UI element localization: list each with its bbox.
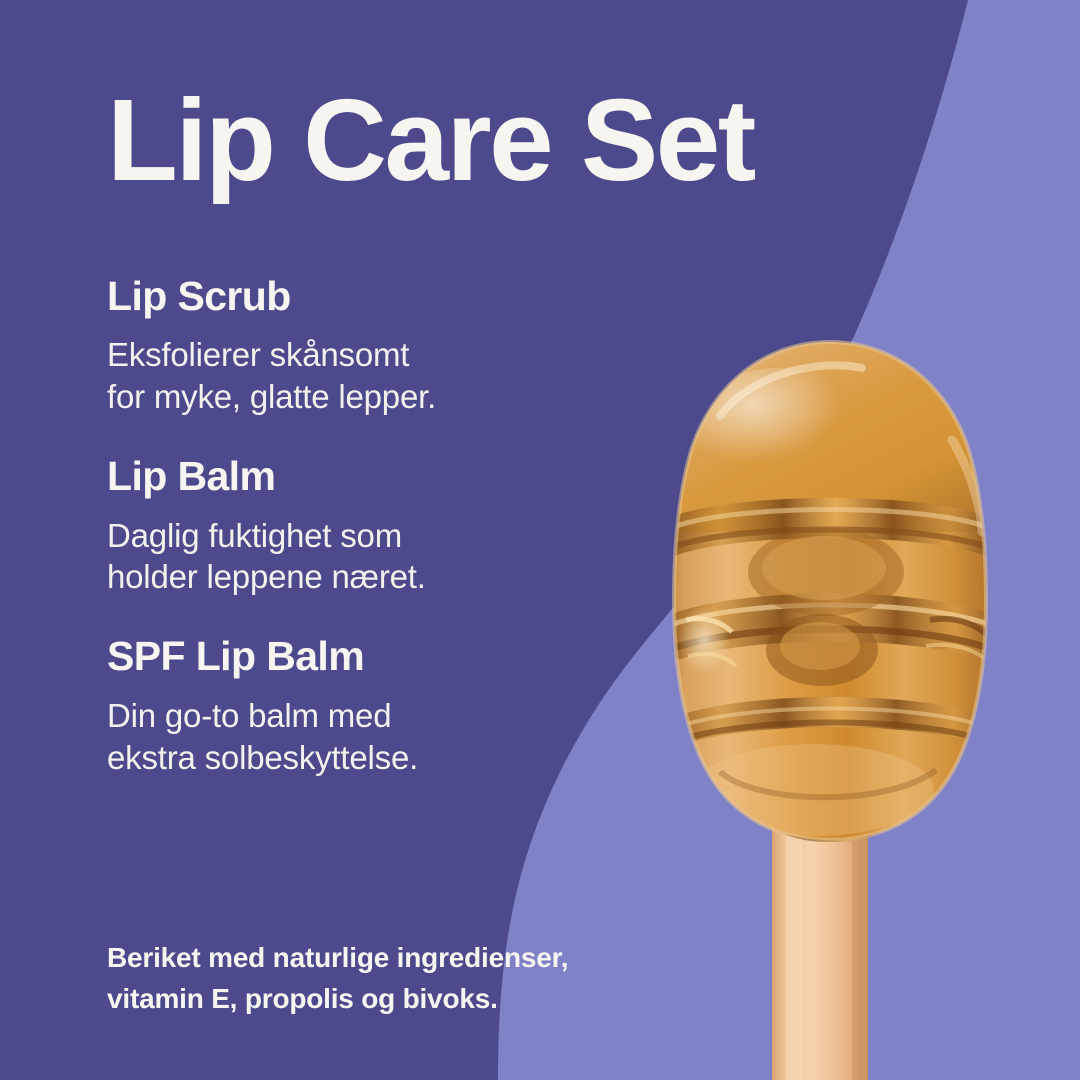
section-body-line: Daglig fuktighet som bbox=[107, 515, 627, 557]
section-body-line: Din go-to balm med bbox=[107, 695, 627, 737]
product-list: Lip Scrub Eksfolierer skånsomt for myke,… bbox=[107, 272, 627, 779]
poster-canvas: Lip Care Set Lip Scrub Eksfolierer skåns… bbox=[0, 0, 1080, 1080]
section-body-line: ekstra solbeskyttelse. bbox=[107, 737, 627, 779]
footnote-line: Beriket med naturlige ingredienser, bbox=[107, 938, 667, 979]
ingredients-footnote: Beriket med naturlige ingredienser, vita… bbox=[107, 938, 667, 1019]
section-body-line: Eksfolierer skånsomt bbox=[107, 334, 627, 376]
section-body-lip-balm: Daglig fuktighet som holder leppene nære… bbox=[107, 515, 627, 599]
section-body-line: for myke, glatte lepper. bbox=[107, 376, 627, 418]
section-heading-lip-balm: Lip Balm bbox=[107, 452, 627, 500]
footnote-line: vitamin E, propolis og bivoks. bbox=[107, 979, 667, 1020]
list-item-lip-scrub: Lip Scrub Eksfolierer skånsomt for myke,… bbox=[107, 272, 627, 418]
text-content: Lip Care Set Lip Scrub Eksfolierer skåns… bbox=[107, 0, 667, 1080]
list-item-lip-balm: Lip Balm Daglig fuktighet som holder lep… bbox=[107, 452, 627, 598]
section-body-spf-lip-balm: Din go-to balm med ekstra solbeskyttelse… bbox=[107, 695, 627, 779]
section-body-lip-scrub: Eksfolierer skånsomt for myke, glatte le… bbox=[107, 334, 627, 418]
glass-honey-dipper-image bbox=[600, 320, 1060, 1080]
page-title: Lip Care Set bbox=[107, 82, 754, 198]
list-item-spf-lip-balm: SPF Lip Balm Din go-to balm med ekstra s… bbox=[107, 632, 627, 778]
section-heading-spf-lip-balm: SPF Lip Balm bbox=[107, 632, 627, 680]
section-heading-lip-scrub: Lip Scrub bbox=[107, 272, 627, 320]
section-body-line: holder leppene næret. bbox=[107, 556, 627, 598]
